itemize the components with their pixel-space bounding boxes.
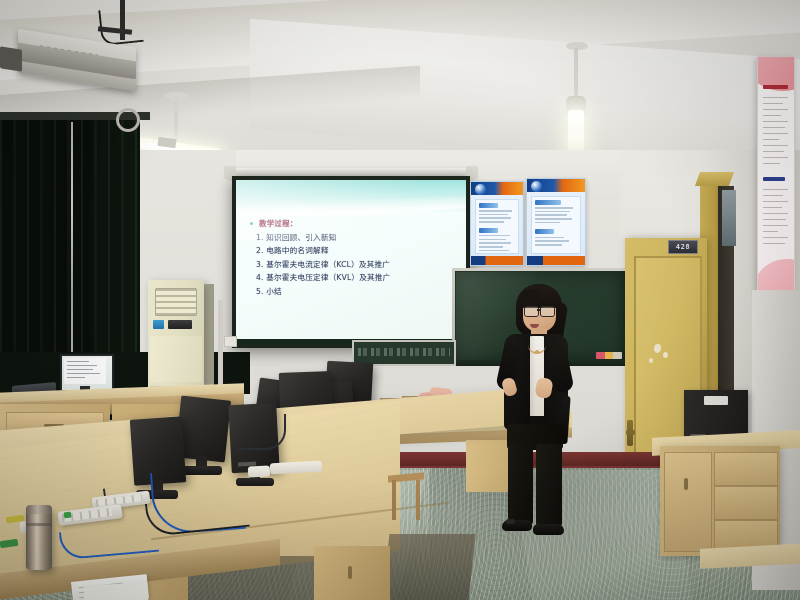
cabinet-drawer[interactable] (714, 486, 778, 520)
cabinet-handle[interactable] (684, 478, 688, 490)
thermos-band (26, 523, 52, 526)
projection-screen-surface: 教学过程： 1. 知识回顾、引入新知 2. 电路中的名词解释 3. 基尔霍夫电流… (236, 180, 466, 344)
ac-vent-grill (155, 288, 197, 316)
classroom-photo: 教学过程： 1. 知识回顾、引入新知 2. 电路中的名词解释 3. 基尔霍夫电流… (0, 0, 800, 600)
doorway-window (722, 190, 736, 246)
poster-emblem-icon (475, 184, 486, 195)
power-adapter[interactable] (248, 465, 271, 477)
poster-section-bar (479, 228, 498, 233)
projection-screen: 教学过程： 1. 知识回顾、引入新知 2. 电路中的名词解释 3. 基尔霍夫电流… (232, 176, 470, 348)
poster-section-bar (535, 200, 561, 205)
poster-subtitle-bar (763, 177, 785, 181)
monitor-document-window (64, 358, 106, 384)
pendant-lamp-right (568, 110, 584, 152)
wall-poster-far-right (757, 56, 795, 296)
door-paint-chip (663, 352, 668, 358)
wall-outlet[interactable] (224, 336, 237, 347)
thermos-lid[interactable] (26, 505, 52, 514)
curtain-ring (116, 108, 140, 132)
slide-item: 3. 基尔霍夫电流定律（KCL）及其推广 (250, 259, 456, 270)
front-desk-cabinet-2[interactable] (314, 546, 390, 600)
poster-section-bar (479, 203, 498, 208)
poster-section-bar (535, 229, 554, 234)
cabinet-door[interactable] (664, 452, 712, 552)
poster-footer-band (527, 256, 585, 265)
wall-poster-right (526, 178, 586, 266)
ac-front-door (150, 336, 202, 382)
slide-item: 2. 电路中的名词解释 (250, 245, 456, 256)
projector-lens (0, 46, 22, 71)
slide-item: 5. 小结 (250, 286, 456, 297)
door-frame-header (695, 172, 734, 186)
eyeglasses-bridge (537, 309, 540, 311)
poster-title-bar (763, 85, 788, 89)
door-paint-chip (649, 358, 653, 363)
room-number-text: 428 (676, 243, 690, 251)
eyeglasses-lens-left (524, 306, 539, 317)
chalk-writing (358, 348, 450, 356)
cable (238, 414, 286, 450)
power-strip-switch[interactable] (64, 512, 72, 519)
stool-leg (392, 480, 396, 520)
cabinet-handle[interactable] (348, 566, 352, 579)
door-handle[interactable] (626, 430, 635, 435)
teacher-shoe-right (533, 524, 564, 535)
poster-footer-band (471, 256, 523, 265)
slide-item: 4. 基尔霍夫电压定律（KVL）及其推广 (250, 272, 456, 283)
paper-sheet[interactable] (84, 582, 149, 600)
shoe-bow (506, 519, 515, 524)
room-number-plate: 428 (668, 240, 698, 254)
teacher-leg-left (508, 444, 533, 526)
poster-body (531, 196, 581, 254)
thermos-flask[interactable] (26, 508, 52, 570)
wall-poster-left (470, 181, 524, 266)
desk-under-shadow (383, 534, 476, 600)
pc-asset-label (704, 396, 728, 405)
chalk-pieces[interactable] (596, 352, 622, 359)
ac-brand-badge (153, 320, 164, 329)
screen-glare (236, 180, 466, 240)
poster-body (475, 199, 519, 254)
stool-leg (416, 480, 420, 520)
ac-display-panel[interactable] (168, 320, 192, 329)
teacher-leg-right (536, 444, 562, 528)
poster-emblem-icon (531, 181, 542, 192)
lamp-stem-right (574, 48, 578, 100)
necklace-pendant (535, 350, 539, 354)
eyeglasses-lens-right (540, 306, 555, 317)
cabinet-drawer[interactable] (714, 452, 778, 486)
